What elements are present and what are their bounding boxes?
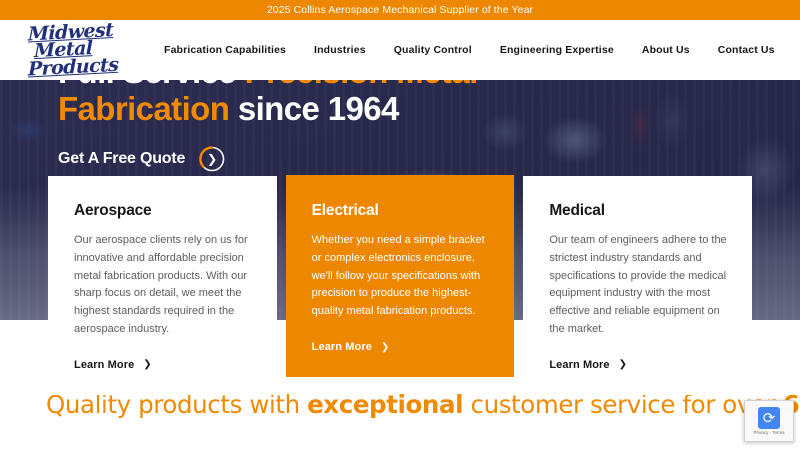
industry-cards: Aerospace Our aerospace clients rely on … [0, 176, 800, 395]
learn-more-label: Learn More [74, 359, 134, 371]
recaptcha-privacy-terms: Privacy - Terms [754, 430, 785, 435]
hero-headline-part-3: Fabrication [58, 90, 238, 127]
announcement-text: 2025 Collins Aerospace Mechanical Suppli… [267, 4, 533, 16]
chevron-right-icon: ❯ [207, 153, 217, 165]
hero-headline-line-2: Fabrication since 1964 [58, 91, 618, 128]
card-body: Whether you need a simple bracket or com… [312, 232, 491, 321]
chevron-right-icon: ❯ [619, 359, 627, 370]
learn-more-label: Learn More [549, 359, 609, 371]
chevron-right-icon: ❯ [143, 359, 151, 370]
hero-headline-part-4: since 1964 [238, 90, 399, 127]
learn-more-link-electrical[interactable]: Learn More ❯ [312, 341, 390, 353]
card-title: Electrical [312, 202, 491, 220]
recaptcha-badge[interactable]: ⟳ Privacy - Terms [744, 400, 794, 442]
card-body: Our team of engineers adhere to the stri… [549, 232, 728, 339]
site-logo[interactable]: Midwest Metal Products [0, 20, 150, 80]
learn-more-link-medical[interactable]: Learn More ❯ [549, 359, 627, 371]
learn-more-label: Learn More [312, 341, 372, 353]
nav-item-engineering-expertise[interactable]: Engineering Expertise [486, 44, 628, 56]
get-a-free-quote-button[interactable]: Get A Free Quote ❯ [58, 146, 225, 172]
main-navigation: Fabrication Capabilities Industries Qual… [150, 44, 800, 56]
recaptcha-icon: ⟳ [758, 407, 780, 429]
circle-arrow-right-icon: ❯ [199, 146, 225, 172]
learn-more-link-aerospace[interactable]: Learn More ❯ [74, 359, 152, 371]
site-header: Midwest Metal Products Fabrication Capab… [0, 20, 800, 80]
logo-line-3: Products [28, 55, 150, 79]
nav-item-quality-control[interactable]: Quality Control [380, 44, 486, 56]
nav-item-about-us[interactable]: About Us [628, 44, 704, 56]
nav-item-fabrication-capabilities[interactable]: Fabrication Capabilities [150, 44, 300, 56]
nav-item-industries[interactable]: Industries [300, 44, 380, 56]
chevron-right-icon: ❯ [381, 342, 389, 353]
card-title: Medical [549, 202, 728, 220]
industry-card-electrical[interactable]: Electrical Whether you need a simple bra… [286, 175, 515, 377]
card-body: Our aerospace clients rely on us for inn… [74, 232, 253, 339]
announcement-bar: 2025 Collins Aerospace Mechanical Suppli… [0, 0, 800, 20]
cta-label: Get A Free Quote [58, 150, 185, 168]
industry-card-aerospace[interactable]: Aerospace Our aerospace clients rely on … [48, 176, 277, 395]
card-title: Aerospace [74, 202, 253, 220]
nav-item-contact-us[interactable]: Contact Us [704, 44, 789, 56]
industry-card-medical[interactable]: Medical Our team of engineers adhere to … [523, 176, 752, 395]
